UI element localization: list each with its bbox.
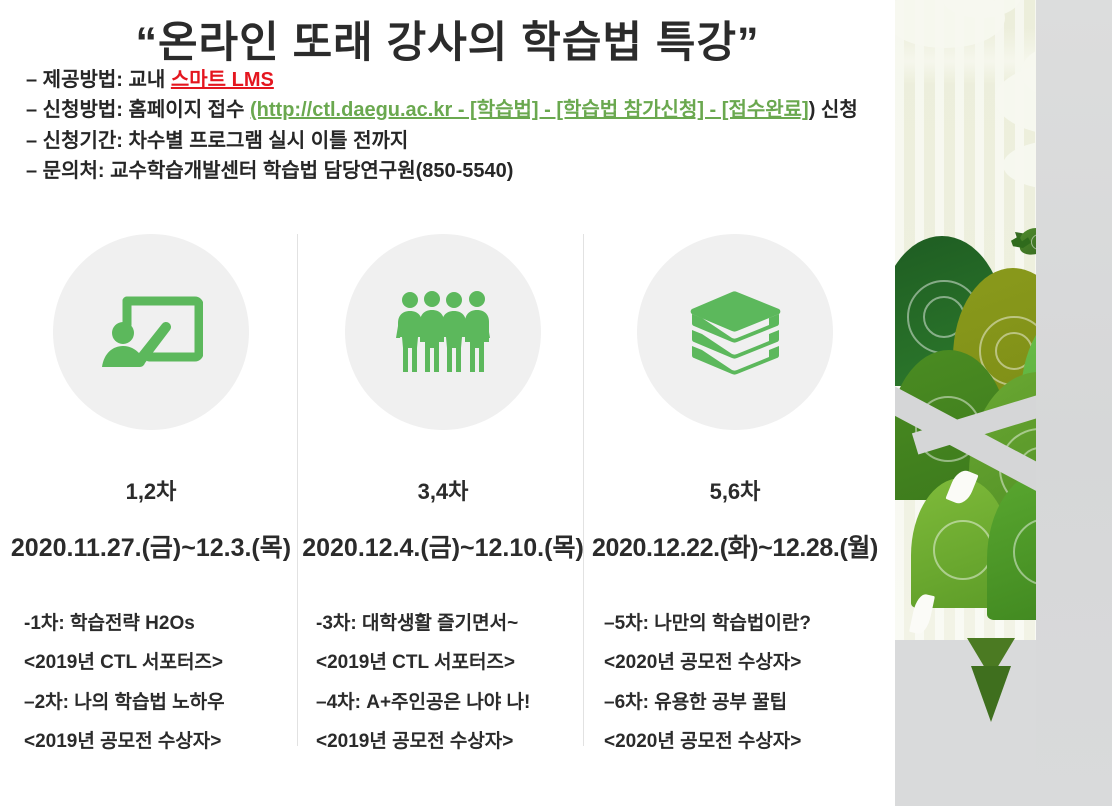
icon-circle (637, 234, 833, 430)
panel-right-gray (1036, 0, 1112, 806)
info-prefix: – 신청기간: 차수별 프로그램 실시 이틀 전까지 (26, 130, 408, 152)
info-line-provision: – 제공방법: 교내 스마트 LMS (26, 66, 906, 94)
list-item: <2019년 CTL 서포터즈> (316, 643, 588, 682)
date-label: 2020.11.27.(금)~12.3.(목) (6, 528, 296, 564)
list-item: -3차: 대학생활 즐기면서~ (316, 604, 588, 643)
list-item: <2020년 공모전 수상자> (604, 643, 880, 682)
round-label: 1,2차 (6, 474, 296, 506)
session-list: -3차: 대학생활 즐기면서~ <2019년 CTL 서포터즈> –4차: A+… (298, 604, 588, 761)
info-line-contact: – 문의처: 교수학습개발센터 학습법 담당연구원(850-5540) (26, 157, 906, 185)
list-item: <2020년 공모전 수상자> (604, 722, 880, 761)
list-item: –6차: 유용한 공부 꿀팁 (604, 683, 880, 722)
list-item: –4차: A+주인공은 나야 나! (316, 683, 588, 722)
teacher-presentation-icon (99, 291, 203, 373)
smart-lms-highlight: 스마트 LMS (171, 69, 274, 91)
schedule-columns: 1,2차 2020.11.27.(금)~12.3.(목) -1차: 학습전략 H… (0, 228, 895, 773)
info-prefix: – 문의처: 교수학습개발센터 학습법 담당연구원(850-5540) (26, 160, 513, 182)
stack-of-books-icon (684, 288, 786, 376)
info-line-application: – 신청방법: 홈페이지 접수 (http://ctl.daegu.ac.kr … (26, 96, 906, 124)
schedule-column-2: 3,4차 2020.12.4.(금)~12.10.(목) -3차: 대학생활 즐… (298, 228, 588, 773)
list-item: –2차: 나의 학습법 노하우 (24, 683, 296, 722)
info-prefix: – 제공방법: 교내 (26, 69, 171, 91)
info-block: – 제공방법: 교내 스마트 LMS – 신청방법: 홈페이지 접수 (http… (26, 66, 906, 188)
session-list: –5차: 나만의 학습법이란? <2020년 공모전 수상자> –6차: 유용한… (590, 604, 880, 761)
group-of-people-icon (394, 290, 492, 374)
application-url-link[interactable]: (http://ctl.daegu.ac.kr - [학습법] - [학습법 참… (250, 99, 809, 121)
schedule-column-3: 5,6차 2020.12.22.(화)~12.28.(월) –5차: 나만의 학… (590, 228, 880, 773)
list-item: <2019년 공모전 수상자> (24, 722, 296, 761)
poster-content: “온라인 또래 강사의 학습법 특강” – 제공방법: 교내 스마트 LMS –… (0, 0, 895, 806)
info-prefix: – 신청방법: 홈페이지 접수 (26, 99, 250, 121)
info-suffix: ) 신청 (809, 99, 858, 121)
list-item: <2019년 CTL 서포터즈> (24, 643, 296, 682)
icon-circle (345, 234, 541, 430)
date-label: 2020.12.22.(화)~12.28.(월) (590, 528, 880, 564)
list-item: <2019년 공모전 수상자> (316, 722, 588, 761)
round-label: 3,4차 (298, 474, 588, 506)
session-list: -1차: 학습전략 H2Os <2019년 CTL 서포터즈> –2차: 나의 … (6, 604, 296, 761)
round-label: 5,6차 (590, 474, 880, 506)
info-line-period: – 신청기간: 차수별 프로그램 실시 이틀 전까지 (26, 127, 906, 155)
list-item: -1차: 학습전략 H2Os (24, 604, 296, 643)
icon-circle (53, 234, 249, 430)
poster-slide: “온라인 또래 강사의 학습법 특강” – 제공방법: 교내 스마트 LMS –… (0, 0, 1112, 806)
date-label: 2020.12.4.(금)~12.10.(목) (298, 528, 588, 564)
list-item: –5차: 나만의 학습법이란? (604, 604, 880, 643)
nature-illustration-panel (895, 0, 1112, 806)
page-title: “온라인 또래 강사의 학습법 특강” (0, 8, 895, 70)
schedule-column-1: 1,2차 2020.11.27.(금)~12.3.(목) -1차: 학습전략 H… (6, 228, 296, 773)
